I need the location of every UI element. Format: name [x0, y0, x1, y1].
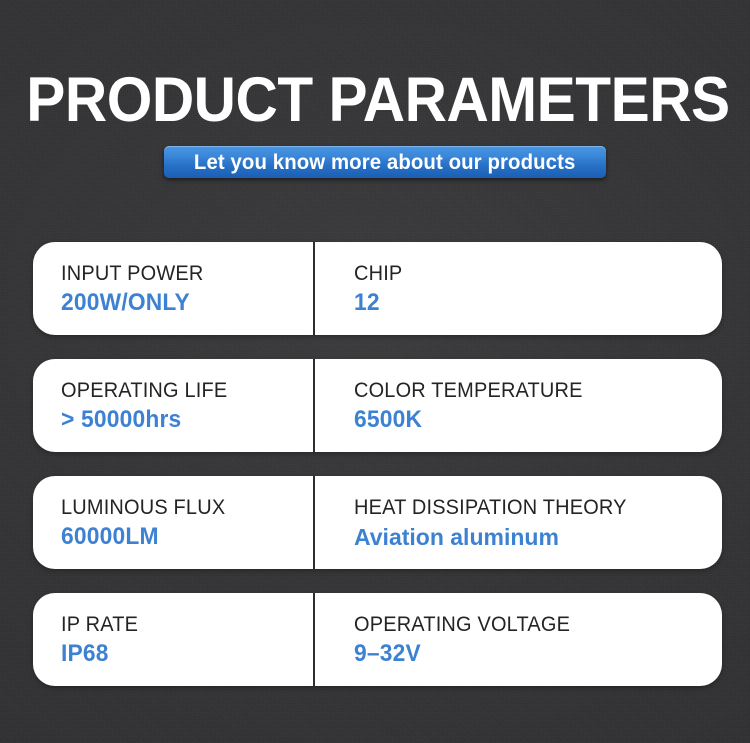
spec-value: 12 [354, 290, 704, 316]
spec-cell-heat-dissipation-theory: HEAT DISSIPATION THEORY Aviation aluminu… [315, 476, 722, 569]
spec-label: OPERATING VOLTAGE [354, 613, 704, 637]
page-title: PRODUCT PARAMETERS [26, 70, 724, 130]
spec-label: INPUT POWER [61, 262, 300, 286]
spec-list: INPUT POWER 200W/ONLY CHIP 12 OPERATING … [33, 242, 722, 686]
product-parameters-poster: PRODUCT PARAMETERS Let you know more abo… [0, 0, 750, 743]
spec-cell-ip-rate: IP RATE IP68 [33, 593, 313, 686]
spec-cell-operating-life: OPERATING LIFE > 50000hrs [33, 359, 313, 452]
spec-label: COLOR TEMPERATURE [354, 379, 704, 403]
spec-value: 60000LM [61, 524, 300, 550]
spec-value: 200W/ONLY [61, 290, 300, 316]
spec-cell-input-power: INPUT POWER 200W/ONLY [33, 242, 313, 335]
spec-label: CHIP [354, 262, 704, 286]
subtitle-badge-label: Let you know more about our products [194, 152, 575, 173]
spec-value: > 50000hrs [61, 407, 300, 433]
spec-label: OPERATING LIFE [61, 379, 300, 403]
spec-cell-operating-voltage: OPERATING VOLTAGE 9–32V [315, 593, 722, 686]
spec-label: HEAT DISSIPATION THEORY [354, 496, 704, 520]
spec-row: INPUT POWER 200W/ONLY CHIP 12 [33, 242, 722, 335]
spec-row: OPERATING LIFE > 50000hrs COLOR TEMPERAT… [33, 359, 722, 452]
spec-value: Aviation aluminum [354, 524, 722, 550]
spec-cell-luminous-flux: LUMINOUS FLUX 60000LM [33, 476, 313, 569]
spec-value: 6500K [354, 407, 704, 433]
spec-value: IP68 [61, 641, 300, 667]
spec-cell-color-temperature: COLOR TEMPERATURE 6500K [315, 359, 722, 452]
spec-label: IP RATE [61, 613, 300, 637]
spec-row: IP RATE IP68 OPERATING VOLTAGE 9–32V [33, 593, 722, 686]
spec-label: LUMINOUS FLUX [61, 496, 300, 520]
subtitle-badge: Let you know more about our products [164, 146, 606, 178]
spec-row: LUMINOUS FLUX 60000LM HEAT DISSIPATION T… [33, 476, 722, 569]
spec-cell-chip: CHIP 12 [315, 242, 722, 335]
spec-value: 9–32V [354, 641, 704, 667]
